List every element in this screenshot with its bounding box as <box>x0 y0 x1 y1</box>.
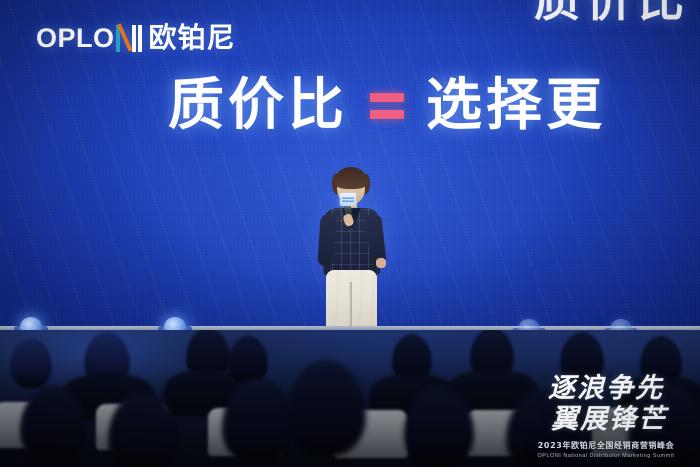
event-subtitle-english: OPLONI National Distributor Marketing Su… <box>520 453 692 459</box>
key-visual-line-2: 翼展锋芒 <box>526 406 692 434</box>
logo-chinese-text: 欧铂尼 <box>149 24 236 52</box>
equals-sign-icon <box>370 93 404 119</box>
event-key-visual: 逐浪争先 翼展锋芒 2023年欧铂尼全国经销商营销峰会 OPLONI Natio… <box>520 375 692 459</box>
event-subtitle-chinese: 2023年欧铂尼全国经销商营销峰会 <box>520 440 692 451</box>
logo-i-bar-icon <box>138 25 142 52</box>
oploni-logo: OPLO 欧铂尼 <box>36 24 236 52</box>
key-visual-line-1: 逐浪争先 <box>520 375 692 403</box>
microphone-flag <box>340 193 356 206</box>
speaker-figure <box>306 170 396 330</box>
headline-part-2: 选择更 <box>426 78 606 134</box>
conference-stage-photo: 质价比 OPLO 欧铂尼 质价比 选择更 <box>0 0 700 467</box>
speaker-hand-right <box>376 258 386 268</box>
speaker-trouser-folds <box>326 270 377 330</box>
slide-clipped-top-line: 质价比 <box>534 0 690 30</box>
slide-headline: 质价比 选择更 <box>168 78 606 134</box>
logo-latin-text: OPLO <box>36 25 115 52</box>
speaker-hair <box>334 167 368 189</box>
logo-n-glyph-icon <box>116 25 136 52</box>
headline-part-1: 质价比 <box>168 78 348 134</box>
speaker-trouser-seam <box>350 282 352 330</box>
